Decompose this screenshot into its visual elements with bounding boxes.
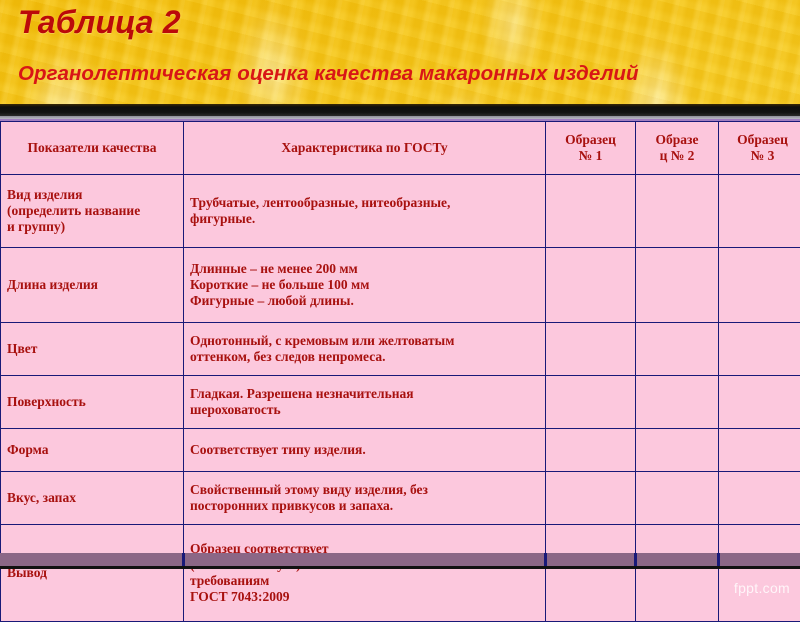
row-description-line: Фигурные – любой длины. (190, 293, 539, 309)
row-sample-3-cell[interactable] (719, 525, 800, 622)
table-bottom-strip (0, 553, 800, 567)
row-sample-1-cell[interactable] (546, 525, 636, 622)
row-sample-3-cell[interactable] (719, 248, 800, 323)
table-row: Вид изделия (определить название и групп… (1, 175, 800, 248)
row-sample-2-cell[interactable] (636, 525, 719, 622)
row-description: Трубчатые, лентообразные, нитеобразные, … (184, 175, 546, 248)
row-description-line: Короткие – не больше 100 мм (190, 277, 539, 293)
row-sample-2-cell[interactable] (636, 175, 719, 248)
header-sample-3-line-1: Образец (725, 132, 800, 148)
header-sample-2-line-1: Образе (642, 132, 712, 148)
row-description: Соответствует типу изделия. (184, 429, 546, 472)
quality-assessment-table: Показатели качества Характеристика по ГО… (0, 121, 800, 622)
row-description: Длинные – не менее 200 мм Короткие – не … (184, 248, 546, 323)
top-dark-band (0, 104, 800, 116)
fppt-watermark: fppt.com (734, 580, 790, 596)
strip-divider-4 (717, 553, 720, 567)
bottom-black-rule (0, 566, 800, 569)
row-sample-2-cell[interactable] (636, 376, 719, 429)
row-description: Однотонный, с кремовым или желтоватым от… (184, 323, 546, 376)
row-indicator-line: и группу) (7, 219, 177, 235)
table-row: Длина изделия Длинные – не менее 200 мм … (1, 248, 800, 323)
header-gost-characteristic: Характеристика по ГОСТу (184, 122, 546, 175)
row-sample-2-cell[interactable] (636, 429, 719, 472)
strip-divider-2 (544, 553, 547, 567)
row-description-line: требованиям (190, 573, 539, 589)
row-description: Свойственный этому виду изделия, без пос… (184, 472, 546, 525)
header-sample-1-line-1: Образец (552, 132, 629, 148)
row-sample-3-cell[interactable] (719, 472, 800, 525)
header-sample-1: Образец № 1 (546, 122, 636, 175)
header-sample-2: Образе ц № 2 (636, 122, 719, 175)
row-description-line: ГОСТ 7043:2009 (190, 589, 539, 605)
row-indicator-line: (определить название (7, 203, 177, 219)
table-row: Вывод Образец соответствует (не соответс… (1, 525, 800, 622)
strip-divider-1 (182, 553, 185, 567)
row-sample-1-cell[interactable] (546, 323, 636, 376)
row-description-line: Однотонный, с кремовым или желтоватым (190, 333, 539, 349)
table-row: Цвет Однотонный, с кремовым или желтоват… (1, 323, 800, 376)
header-sample-1-line-2: № 1 (552, 148, 629, 164)
row-description-line: Свойственный этому виду изделия, без (190, 482, 539, 498)
row-sample-2-cell[interactable] (636, 472, 719, 525)
page-title: Таблица 2 (18, 4, 181, 41)
page-subtitle: Органолептическая оценка качества макаро… (18, 62, 639, 86)
row-description: Гладкая. Разрешена незначительная шерохо… (184, 376, 546, 429)
row-description-line: оттенком, без следов непромеса. (190, 349, 539, 365)
row-sample-1-cell[interactable] (546, 472, 636, 525)
row-indicator: Цвет (1, 323, 184, 376)
header-indicator: Показатели качества (1, 122, 184, 175)
row-description-line: Длинные – не менее 200 мм (190, 261, 539, 277)
header-sample-2-line-2: ц № 2 (642, 148, 712, 164)
quality-table-container: Показатели качества Характеристика по ГО… (0, 121, 800, 565)
row-description: Образец соответствует (не соответствует)… (184, 525, 546, 622)
row-description-line: фигурные. (190, 211, 539, 227)
table-row: Форма Соответствует типу изделия. (1, 429, 800, 472)
strip-divider-3 (634, 553, 637, 567)
table-header-row: Показатели качества Характеристика по ГО… (1, 122, 800, 175)
row-sample-1-cell[interactable] (546, 175, 636, 248)
row-sample-3-cell[interactable] (719, 323, 800, 376)
row-sample-3-cell[interactable] (719, 376, 800, 429)
row-sample-2-cell[interactable] (636, 323, 719, 376)
row-sample-3-cell[interactable] (719, 175, 800, 248)
row-description-line: Гладкая. Разрешена незначительная (190, 386, 539, 402)
row-indicator: Форма (1, 429, 184, 472)
row-indicator: Вид изделия (определить название и групп… (1, 175, 184, 248)
row-indicator: Вкус, запах (1, 472, 184, 525)
row-sample-3-cell[interactable] (719, 429, 800, 472)
table-row: Вкус, запах Свойственный этому виду изде… (1, 472, 800, 525)
row-sample-1-cell[interactable] (546, 248, 636, 323)
row-sample-1-cell[interactable] (546, 429, 636, 472)
row-description-line: шероховатость (190, 402, 539, 418)
row-indicator-line: Вид изделия (7, 187, 177, 203)
row-description-line: Трубчатые, лентообразные, нитеобразные, (190, 195, 539, 211)
row-sample-2-cell[interactable] (636, 248, 719, 323)
row-sample-1-cell[interactable] (546, 376, 636, 429)
row-description-line: посторонних привкусов и запаха. (190, 498, 539, 514)
row-indicator: Длина изделия (1, 248, 184, 323)
row-indicator: Поверхность (1, 376, 184, 429)
header-sample-3: Образец № 3 (719, 122, 800, 175)
table-row: Поверхность Гладкая. Разрешена незначите… (1, 376, 800, 429)
row-indicator: Вывод (1, 525, 184, 622)
header-sample-3-line-2: № 3 (725, 148, 800, 164)
